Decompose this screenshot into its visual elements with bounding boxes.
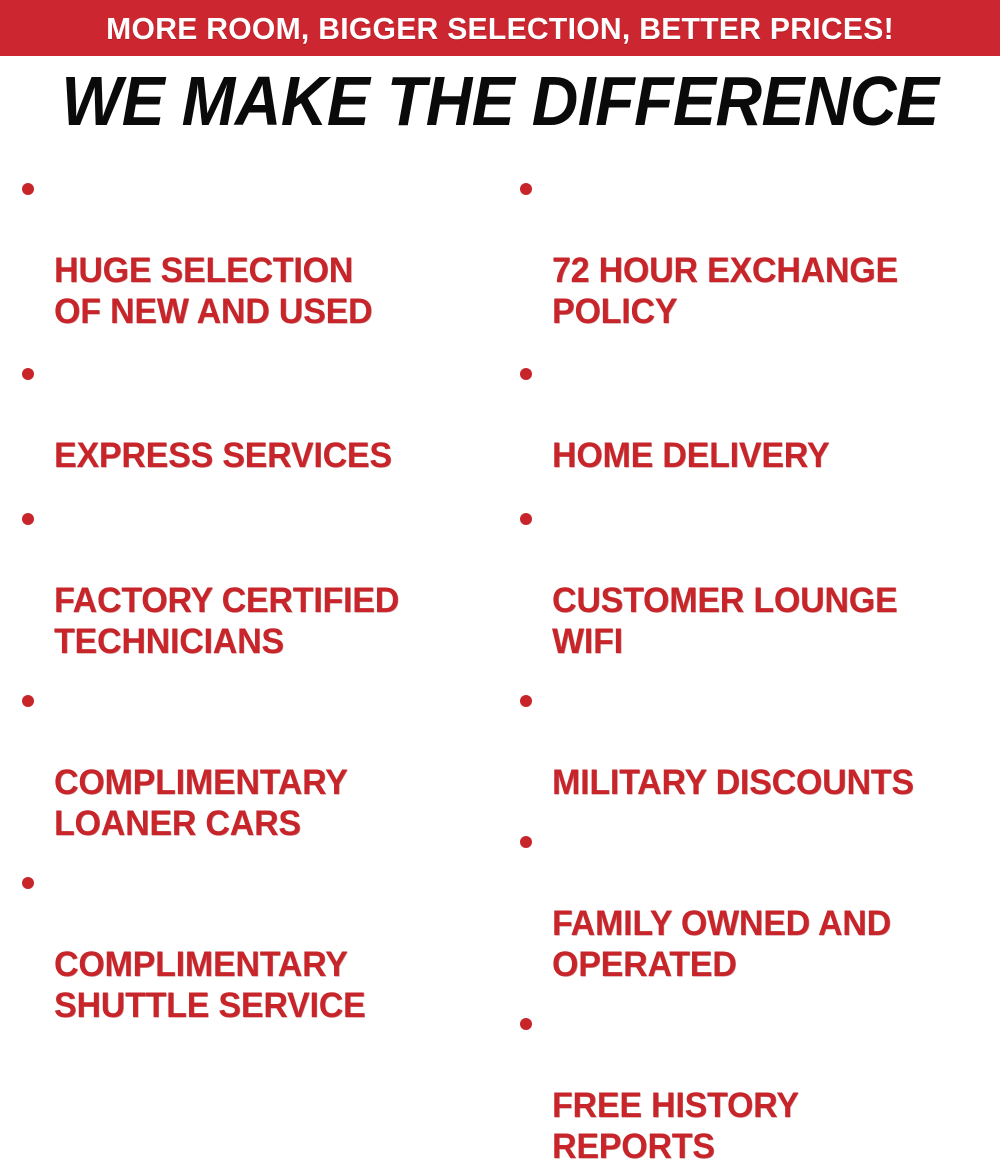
bullet-dot-icon bbox=[22, 183, 34, 195]
list-item-label: CUSTOMER LOUNGE WIFI bbox=[552, 580, 897, 662]
list-item-label: FAMILY OWNED AND OPERATED bbox=[552, 903, 891, 985]
list-item: HOME DELIVERY bbox=[512, 353, 1000, 476]
bullet-dot-icon bbox=[520, 695, 532, 707]
list-item-label: COMPLIMENTARY LOANER CARS bbox=[54, 762, 348, 844]
promo-banner-text: MORE ROOM, BIGGER SELECTION, BETTER PRIC… bbox=[106, 13, 894, 44]
list-item: CUSTOMER LOUNGE WIFI bbox=[512, 498, 1000, 662]
list-item-label: 72 HOUR EXCHANGE POLICY bbox=[552, 250, 898, 332]
list-item: MILITARY DISCOUNTS bbox=[512, 680, 1000, 803]
list-item-label: HUGE SELECTION OF NEW AND USED bbox=[54, 250, 372, 332]
list-item-label: HOME DELIVERY bbox=[552, 435, 829, 476]
bullet-dot-icon bbox=[520, 513, 532, 525]
feature-list: HUGE SELECTION OF NEW AND USED EXPRESS S… bbox=[0, 158, 1000, 694]
list-item: COMPLIMENTARY SHUTTLE SERVICE bbox=[14, 862, 500, 1026]
advertisement-graphic: MORE ROOM, BIGGER SELECTION, BETTER PRIC… bbox=[0, 0, 1000, 694]
list-item: FAMILY OWNED AND OPERATED bbox=[512, 821, 1000, 985]
bullet-dot-icon bbox=[22, 695, 34, 707]
feature-list-column-left: HUGE SELECTION OF NEW AND USED EXPRESS S… bbox=[14, 158, 500, 694]
bullet-dot-icon bbox=[520, 183, 532, 195]
list-item-label: FREE HISTORY REPORTS bbox=[552, 1085, 799, 1167]
list-item: EXPRESS SERVICES bbox=[14, 353, 500, 476]
list-item-label: MILITARY DISCOUNTS bbox=[552, 762, 914, 803]
list-item: 72 HOUR EXCHANGE POLICY bbox=[512, 168, 1000, 332]
list-item: FACTORY CERTIFIED TECHNICIANS bbox=[14, 498, 500, 662]
bullet-dot-icon bbox=[520, 836, 532, 848]
bullet-dot-icon bbox=[520, 368, 532, 380]
bullet-dot-icon bbox=[22, 368, 34, 380]
list-item: COMPLIMENTARY LOANER CARS bbox=[14, 680, 500, 844]
list-item-label: COMPLIMENTARY SHUTTLE SERVICE bbox=[54, 944, 366, 1026]
list-item: HUGE SELECTION OF NEW AND USED bbox=[14, 168, 500, 332]
promo-banner: MORE ROOM, BIGGER SELECTION, BETTER PRIC… bbox=[0, 0, 1000, 56]
list-item-label: EXPRESS SERVICES bbox=[54, 435, 392, 476]
bullet-dot-icon bbox=[22, 877, 34, 889]
feature-list-column-right: 72 HOUR EXCHANGE POLICY HOME DELIVERY CU… bbox=[512, 158, 1000, 694]
list-item-label: FACTORY CERTIFIED TECHNICIANS bbox=[54, 580, 399, 662]
bullet-dot-icon bbox=[22, 513, 34, 525]
page-title: WE MAKE THE DIFFERENCE bbox=[40, 64, 960, 138]
bullet-dot-icon bbox=[520, 1018, 532, 1030]
list-item: FREE HISTORY REPORTS bbox=[512, 1003, 1000, 1167]
